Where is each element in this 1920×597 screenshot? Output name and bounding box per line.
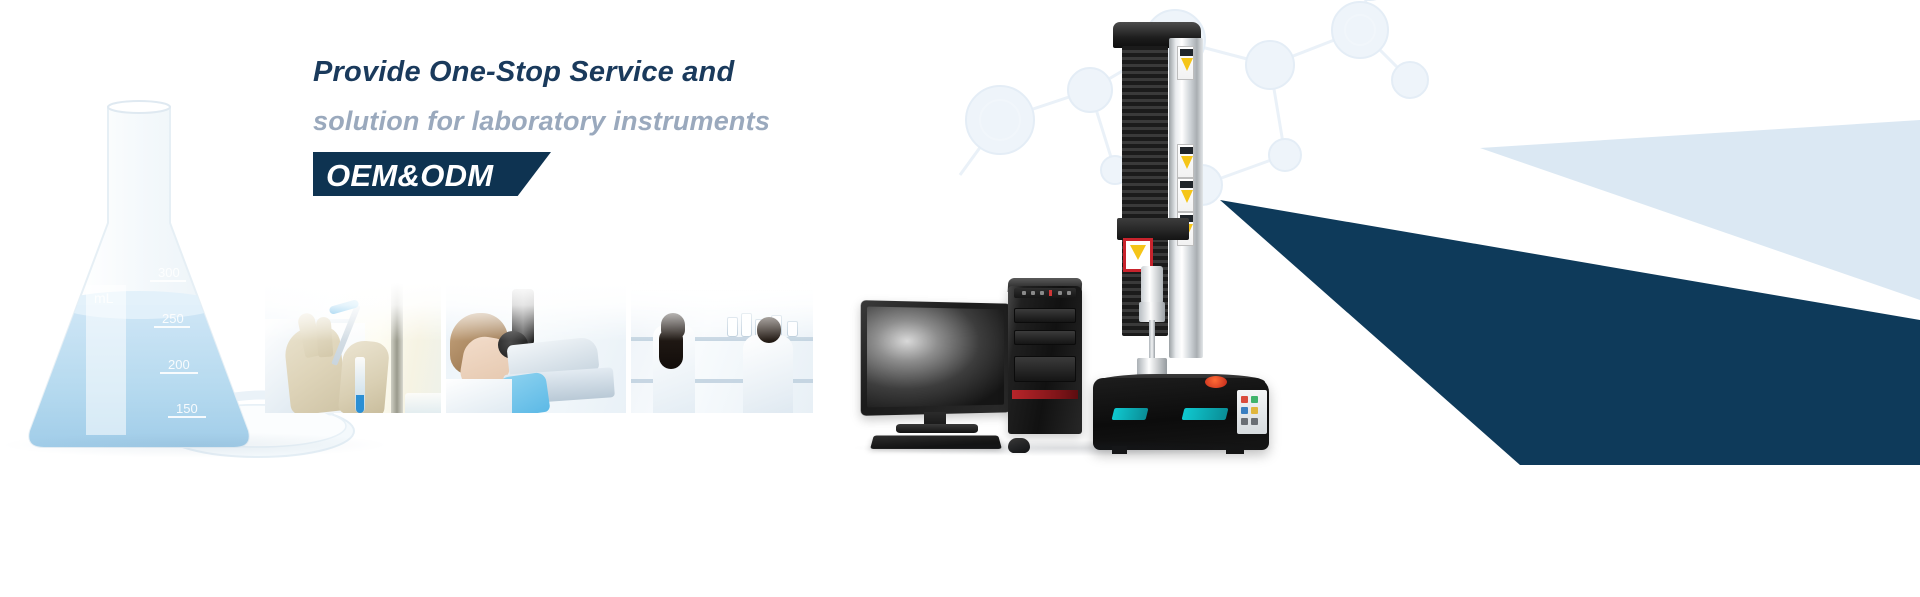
emergency-stop-button[interactable] bbox=[1205, 376, 1227, 388]
light-arrow-triangle bbox=[1480, 120, 1920, 300]
tower-bay-blank-1 bbox=[1014, 330, 1076, 345]
monitor bbox=[861, 300, 1011, 416]
promo-banner: 300 250 200 150 mL Provide One-Stop Serv… bbox=[0, 0, 1920, 597]
svg-text:200: 200 bbox=[168, 357, 190, 372]
oem-odm-tag-label: OEM&ODM bbox=[313, 152, 493, 196]
tower-bay-blank-2 bbox=[1014, 356, 1076, 382]
universal-testing-machine bbox=[1095, 22, 1265, 452]
utm-load-cell bbox=[1141, 266, 1163, 304]
optical-drive-bay bbox=[1014, 308, 1076, 323]
product-ground-shadow bbox=[855, 440, 1275, 456]
tower-brand-logo bbox=[1036, 402, 1076, 412]
svg-text:250: 250 bbox=[162, 311, 184, 326]
tower-front-ports bbox=[1014, 288, 1076, 298]
headline-line-2: solution for laboratory instruments bbox=[313, 108, 953, 135]
hazard-triangle-icon bbox=[1130, 245, 1146, 260]
utm-control-panel[interactable] bbox=[1237, 390, 1267, 434]
oem-odm-tag: OEM&ODM bbox=[313, 152, 493, 196]
headline-block: Provide One-Stop Service and solution fo… bbox=[313, 58, 953, 196]
dark-arrow-triangle bbox=[1220, 200, 1920, 465]
utm-accent-stripe-left bbox=[1112, 408, 1149, 420]
warning-label-icon bbox=[1177, 144, 1194, 178]
monitor-stand-base bbox=[896, 424, 978, 433]
warning-label-icon bbox=[1177, 46, 1194, 80]
decorative-arrow-triangles bbox=[1220, 120, 1920, 480]
photo-strip bbox=[265, 283, 813, 413]
warning-label-icon bbox=[1177, 178, 1194, 212]
monitor-screen bbox=[867, 307, 1004, 408]
utm-upper-grip bbox=[1139, 302, 1165, 322]
photo-scientist-pipetting-sample bbox=[265, 283, 441, 413]
svg-text:mL: mL bbox=[94, 290, 114, 306]
svg-text:300: 300 bbox=[158, 265, 180, 280]
photo-lab-technicians-working bbox=[631, 283, 813, 413]
desktop-computer-workstation bbox=[862, 286, 1102, 446]
utm-accent-stripe-right bbox=[1182, 408, 1229, 420]
headline-line-1: Provide One-Stop Service and bbox=[313, 58, 953, 87]
photo-scientist-at-microscope bbox=[446, 283, 626, 413]
svg-text:150: 150 bbox=[176, 401, 198, 416]
utm-crosshead bbox=[1117, 218, 1189, 240]
flask-shadow bbox=[0, 432, 390, 458]
tower-brand-stripe bbox=[1012, 390, 1078, 399]
